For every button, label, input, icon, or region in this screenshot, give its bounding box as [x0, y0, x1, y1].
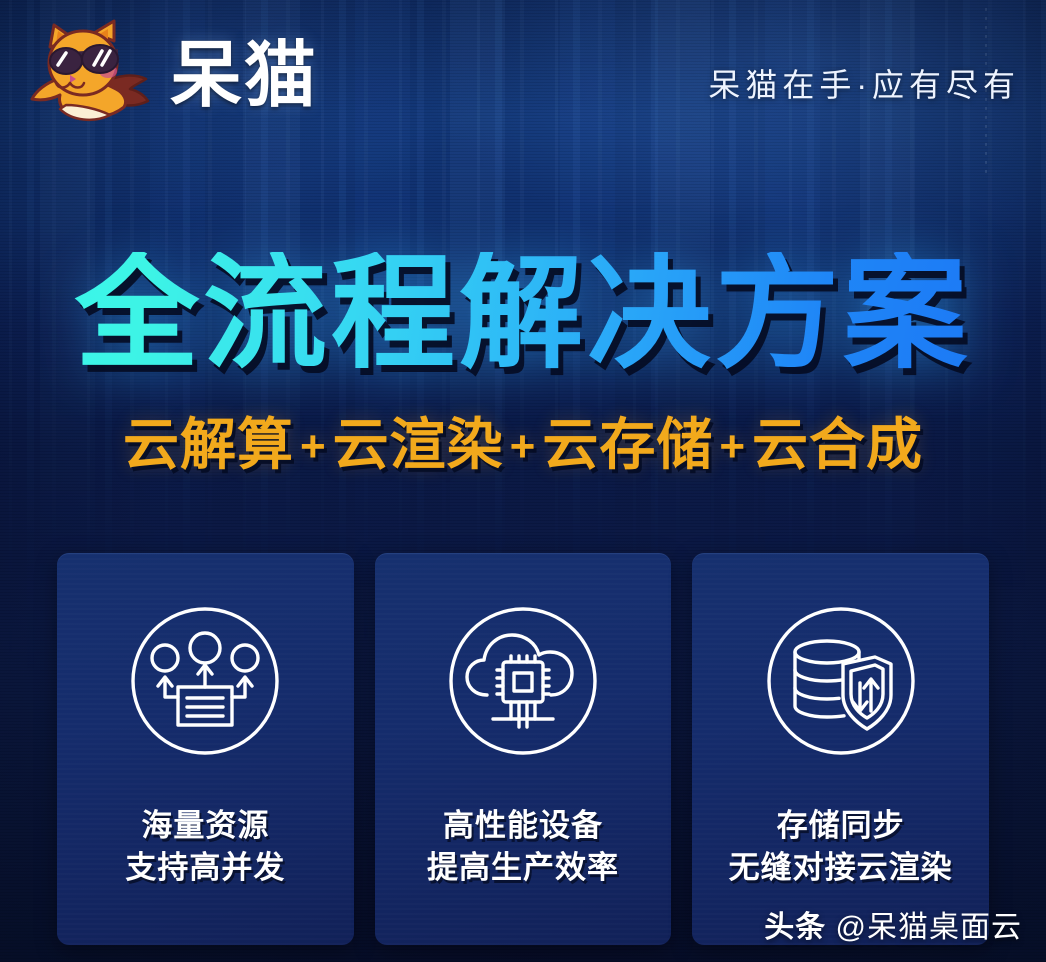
- brand-logo[interactable]: 呆猫: [0, 15, 318, 137]
- flying-cat-mascot-icon: [28, 17, 156, 137]
- promo-poster: 呆猫 呆猫在手·应有尽有 全流程解决方案 云解算+云渲染+云存储+云合成: [0, 0, 1046, 962]
- feature-card-massive-resources[interactable]: 海量资源 支持高并发: [57, 553, 354, 945]
- feature-card-line2: 支持高并发: [125, 847, 285, 889]
- brand-tagline: 呆猫在手·应有尽有: [708, 60, 1020, 106]
- feature-card-line1: 高性能设备: [443, 808, 603, 843]
- cloud-cpu-chip-icon: [441, 599, 605, 763]
- feature-card-list: 海量资源 支持高并发: [57, 553, 989, 945]
- brand-logo-text: 呆猫: [170, 40, 318, 112]
- page-title: 全流程解决方案: [0, 252, 1046, 376]
- watermark-handle: @呆猫桌面云: [836, 911, 1022, 944]
- distributed-nodes-icon: [123, 599, 287, 763]
- feature-card-label: 海量资源 支持高并发: [125, 805, 285, 888]
- watermark-platform: 头条: [764, 911, 826, 944]
- subtitle-plus-2: +: [510, 422, 537, 471]
- subtitle-part-2: 云渲染: [333, 413, 504, 476]
- feature-card-high-performance[interactable]: 高性能设备 提高生产效率: [375, 553, 672, 945]
- feature-card-label: 高性能设备 提高生产效率: [427, 805, 619, 888]
- hero-subtitle: 云解算+云渲染+云存储+云合成: [0, 417, 1046, 473]
- subtitle-part-1: 云解算: [123, 413, 294, 476]
- feature-card-line1: 存储同步: [777, 808, 905, 843]
- database-shield-sync-icon: [759, 599, 923, 763]
- feature-card-line2: 提高生产效率: [427, 847, 619, 889]
- poster-header: 呆猫 呆猫在手·应有尽有: [0, 0, 1046, 152]
- feature-card-label: 存储同步 无缝对接云渲染: [729, 805, 953, 888]
- subtitle-part-4: 云合成: [752, 413, 923, 476]
- subtitle-plus-1: +: [300, 422, 327, 471]
- feature-card-storage-sync[interactable]: 存储同步 无缝对接云渲染: [692, 553, 989, 945]
- subtitle-plus-3: +: [719, 422, 746, 471]
- subtitle-part-3: 云存储: [542, 413, 713, 476]
- feature-card-line2: 无缝对接云渲染: [729, 847, 953, 889]
- watermark: 头条 @呆猫桌面云: [764, 902, 1022, 946]
- feature-card-line1: 海量资源: [141, 808, 269, 843]
